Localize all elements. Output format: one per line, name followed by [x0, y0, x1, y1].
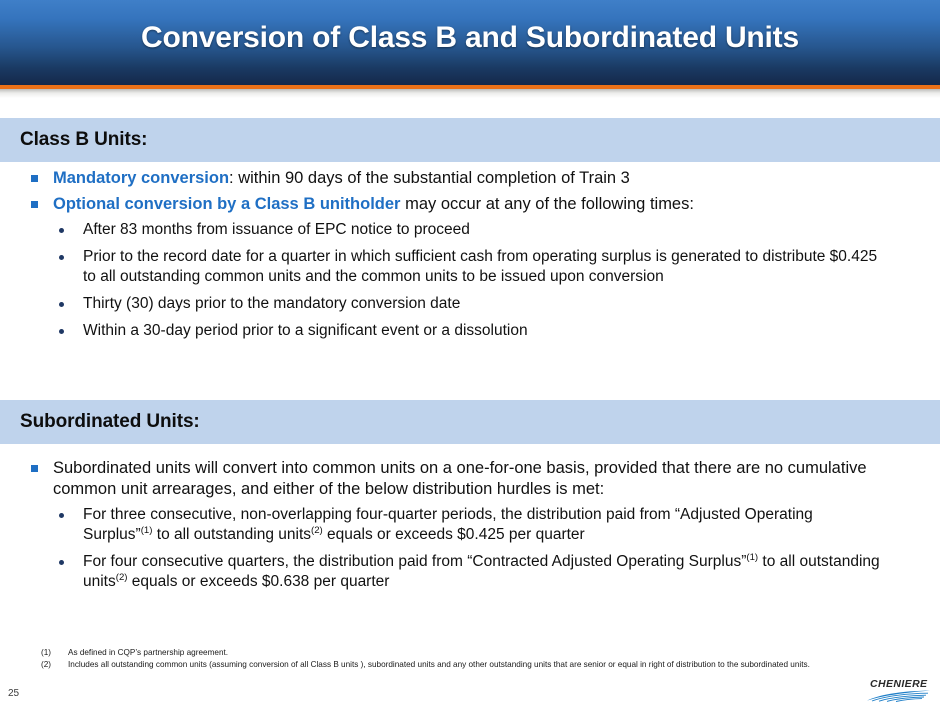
content-list-subordinated: Subordinated units will convert into com…	[0, 458, 940, 599]
logo-wordmark: CHENIERE	[870, 678, 927, 690]
list-item-body: : within 90 days of the substantial comp…	[229, 169, 630, 187]
footnote-ref-1: (1)	[141, 525, 153, 536]
square-bullet-icon	[31, 465, 38, 472]
footnote-row: (2) Includes all outstanding common unit…	[41, 659, 871, 671]
list-item: Optional conversion by a Class B unithol…	[0, 194, 940, 215]
footnote-ref-2: (2)	[116, 572, 128, 583]
list-item: Within a 30-day period prior to a signif…	[0, 321, 940, 341]
list-item-text: Thirty (30) days prior to the mandatory …	[83, 294, 460, 314]
dot-bullet-icon	[59, 513, 64, 518]
header-drop-shadow	[0, 89, 940, 98]
footnote-number: (1)	[41, 647, 68, 659]
slide-header-banner: Conversion of Class B and Subordinated U…	[0, 0, 940, 85]
dot-bullet-icon	[59, 302, 64, 307]
page-number: 25	[8, 688, 19, 699]
dot-bullet-icon	[59, 255, 64, 260]
list-item: For four consecutive quarters, the distr…	[0, 552, 940, 592]
square-bullet-icon	[31, 201, 38, 208]
footnote-text: Includes all outstanding common units (a…	[68, 659, 871, 671]
content-list-class-b: Mandatory conversion: within 90 days of …	[0, 168, 940, 348]
list-item: Prior to the record date for a quarter i…	[0, 247, 940, 287]
logo-swoosh-icon	[866, 690, 932, 702]
list-item-body: may occur at any of the following times:	[400, 195, 693, 213]
footnote-row: (1) As defined in CQP’s partnership agre…	[41, 647, 871, 659]
list-item: Subordinated units will convert into com…	[0, 458, 940, 500]
list-item-text: Within a 30-day period prior to a signif…	[83, 321, 528, 341]
list-item: For three consecutive, non-overlapping f…	[0, 505, 940, 545]
section-header-subordinated: Subordinated Units:	[0, 400, 940, 444]
footnote-ref-1: (1)	[746, 552, 758, 563]
list-item-text: After 83 months from issuance of EPC not…	[83, 220, 470, 240]
list-item-text: Prior to the record date for a quarter i…	[83, 247, 883, 287]
footnote-number: (2)	[41, 659, 68, 671]
list-item-lead: Optional conversion by a Class B unithol…	[53, 195, 400, 213]
list-item-text: For three consecutive, non-overlapping f…	[83, 505, 883, 545]
footnote-text: As defined in CQP’s partnership agreemen…	[68, 647, 871, 659]
dot-bullet-icon	[59, 228, 64, 233]
square-bullet-icon	[31, 175, 38, 182]
section-title-subordinated: Subordinated Units:	[0, 411, 200, 433]
list-item: After 83 months from issuance of EPC not…	[0, 220, 940, 240]
footnote-ref-2: (2)	[311, 525, 323, 536]
list-item-part-3: equals or exceeds $0.425 per quarter	[323, 526, 585, 543]
section-title-class-b: Class B Units:	[0, 129, 147, 151]
section-header-class-b: Class B Units:	[0, 118, 940, 162]
list-item-lead: Mandatory conversion	[53, 169, 229, 187]
page-title: Conversion of Class B and Subordinated U…	[0, 21, 940, 55]
dot-bullet-icon	[59, 329, 64, 334]
list-item: Mandatory conversion: within 90 days of …	[0, 168, 940, 189]
list-item-text: For four consecutive quarters, the distr…	[83, 552, 883, 592]
list-item-part-2: to all outstanding units	[152, 526, 311, 543]
list-item: Thirty (30) days prior to the mandatory …	[0, 294, 940, 314]
list-item-part-3: equals or exceeds $0.638 per quarter	[127, 573, 389, 590]
footnotes-block: (1) As defined in CQP’s partnership agre…	[41, 647, 871, 670]
cheniere-logo: CHENIERE	[866, 678, 932, 702]
list-item-text: Mandatory conversion: within 90 days of …	[53, 168, 630, 189]
list-item-text: Subordinated units will convert into com…	[53, 458, 898, 500]
dot-bullet-icon	[59, 560, 64, 565]
list-item-part-1: For four consecutive quarters, the distr…	[83, 553, 746, 570]
list-item-text: Optional conversion by a Class B unithol…	[53, 194, 694, 215]
